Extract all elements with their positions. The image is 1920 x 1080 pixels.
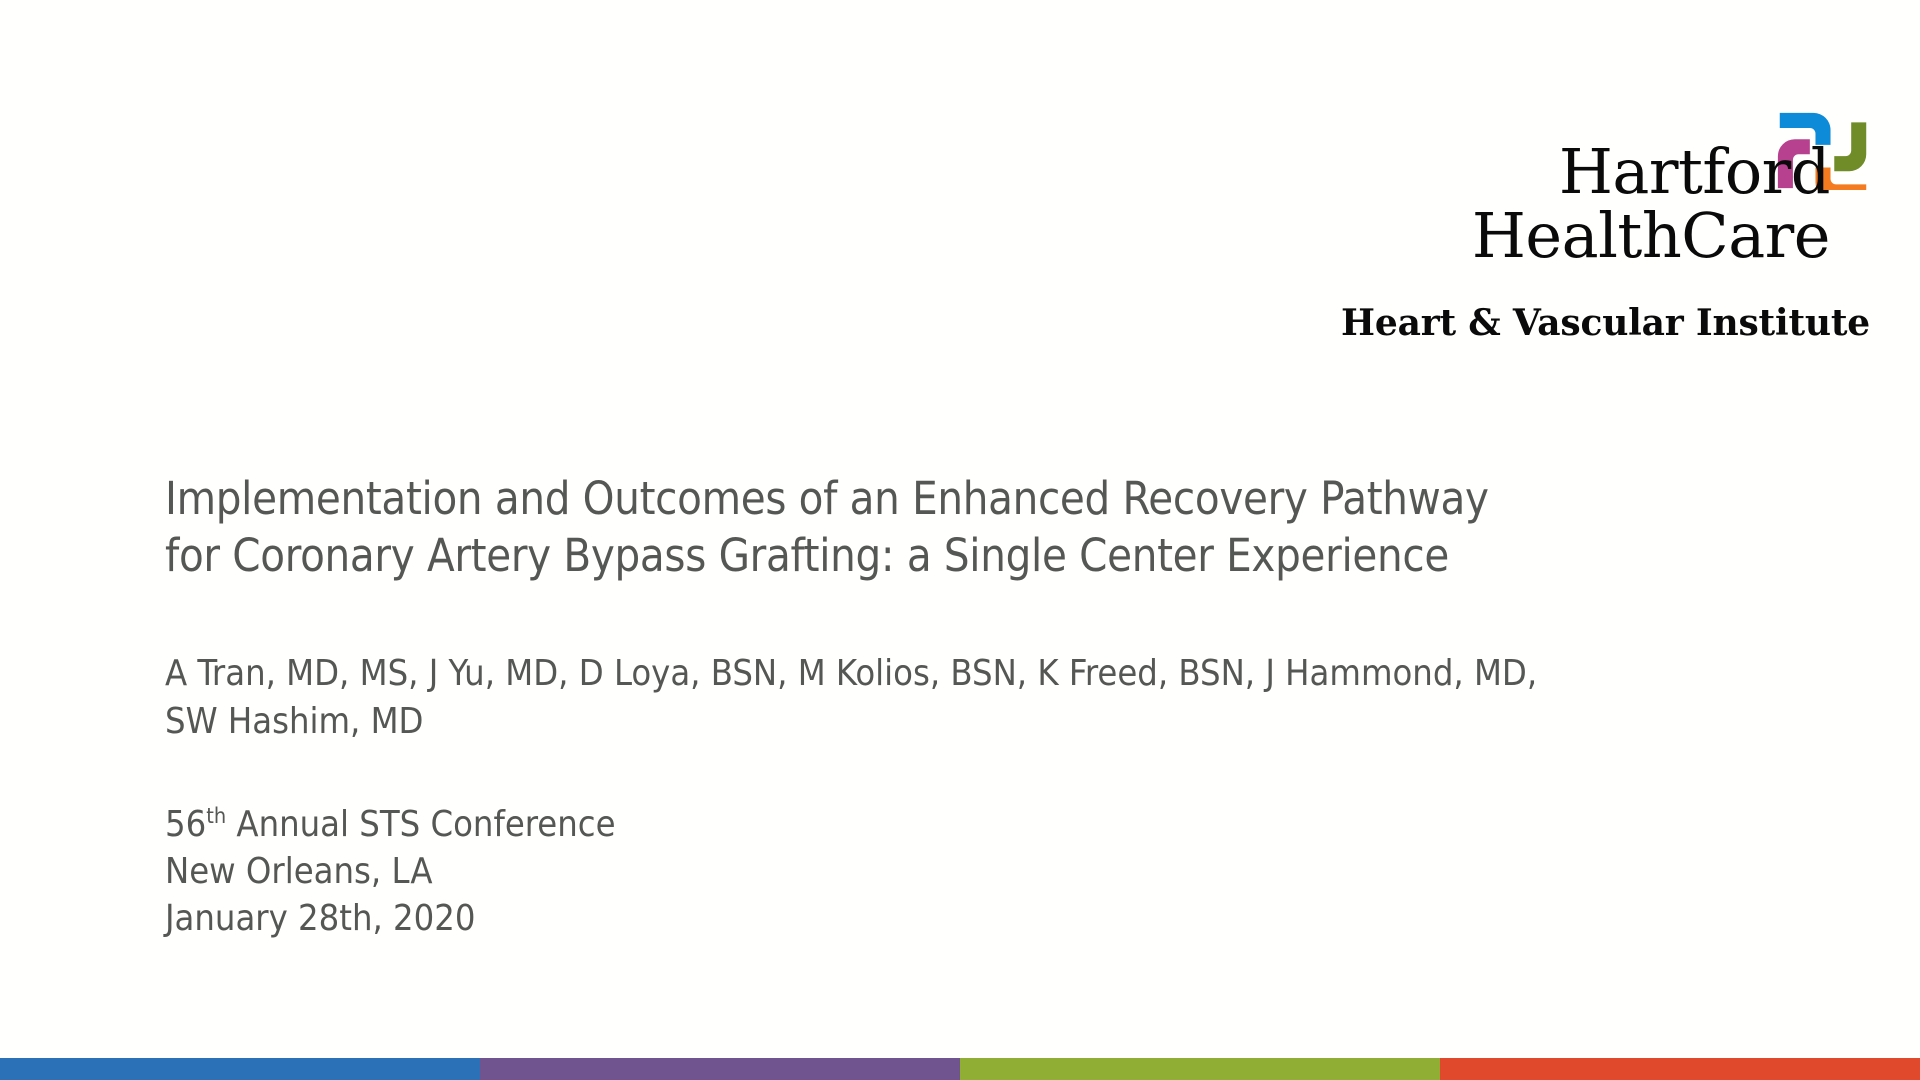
logo-wordmark: Hartford HealthCare xyxy=(1472,140,1830,268)
conference-ordinal-number: 56 xyxy=(165,804,206,845)
conference-date: January 28th, 2020 xyxy=(165,896,1800,943)
footer-color-bar xyxy=(0,1058,1920,1080)
logo-lockup: Hartford HealthCare xyxy=(1250,96,1870,296)
presentation-title-slide: Hartford HealthCare Heart & Vascular Ins… xyxy=(0,0,1920,1080)
conference-location: New Orleans, LA xyxy=(165,849,1800,896)
footer-segment-orange-red xyxy=(1440,1058,1920,1080)
conference-details: 56th Annual STS Conference New Orleans, … xyxy=(165,802,1800,942)
conference-ordinal-suffix: th xyxy=(206,804,226,829)
pinwheel-green-segment xyxy=(1834,122,1866,171)
page-title: Implementation and Outcomes of an Enhanc… xyxy=(165,470,1800,584)
slide-content: Implementation and Outcomes of an Enhanc… xyxy=(165,470,1800,942)
footer-segment-olive-green xyxy=(960,1058,1440,1080)
page-title-line-1: Implementation and Outcomes of an Enhanc… xyxy=(165,470,1800,527)
footer-segment-blue xyxy=(0,1058,480,1080)
logo-wordmark-line-1: Hartford xyxy=(1472,140,1830,204)
logo-wordmark-line-2: HealthCare xyxy=(1472,204,1830,268)
footer-segment-purple xyxy=(480,1058,960,1080)
author-list-line-1: A Tran, MD, MS, J Yu, MD, D Loya, BSN, M… xyxy=(165,650,1800,698)
conference-event-name: Annual STS Conference xyxy=(226,804,615,845)
conference-name: 56th Annual STS Conference xyxy=(165,802,1800,849)
logo-institute-name: Heart & Vascular Institute xyxy=(1250,302,1870,344)
author-list-line-2: SW Hashim, MD xyxy=(165,698,1800,746)
hartford-healthcare-logo: Hartford HealthCare Heart & Vascular Ins… xyxy=(1250,96,1870,344)
page-title-line-2: for Coronary Artery Bypass Grafting: a S… xyxy=(165,527,1800,584)
author-list: A Tran, MD, MS, J Yu, MD, D Loya, BSN, M… xyxy=(165,650,1800,746)
